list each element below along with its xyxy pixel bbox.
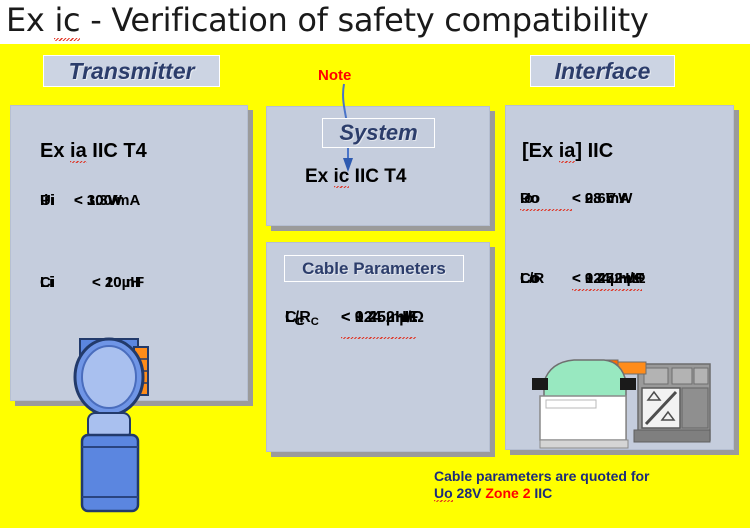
parameter-key: Po [520, 188, 572, 210]
system-classification-misspelled: ic [334, 166, 350, 187]
parameter-row: L/R< 124µH/Ω [520, 268, 646, 290]
system-classification: Ex ic IIC T4 [305, 166, 406, 188]
parameter-key: L/RC [285, 298, 341, 342]
parameter-row: L/RC< 124 µH/Ω [285, 298, 424, 338]
parameter-key: Li [40, 272, 92, 293]
footer-uo: Uo [434, 485, 453, 501]
parameter-row: Po< 0.65 W [520, 188, 632, 210]
parameter-value: < 124µH/Ω [572, 268, 646, 290]
parameter-row: Pi< 1.3W [40, 190, 122, 211]
page-title: Ex ic - Verification of safety compatibi… [6, 0, 649, 42]
transmitter-classification: Ex ia IIC T4 [40, 140, 147, 163]
cable-parameters-header-label: Cable Parameters [284, 255, 464, 282]
parameter-key: L/R [520, 268, 572, 290]
page-title-prefix: Ex [6, 1, 54, 39]
page-title-suffix: - Verification of safety compatibility [80, 1, 648, 39]
footer-zone-highlight: Zone 2 [485, 485, 530, 501]
interface-classification: [Ex ia] IIC [522, 140, 613, 163]
page-title-misspelled-word: ic [54, 1, 80, 39]
slide-root: Ex ic - Verification of safety compatibi… [0, 0, 750, 531]
interface-classification-prefix: [Ex [522, 140, 559, 162]
interface-classification-suffix: ] IIC [575, 140, 613, 162]
interface-classification-misspelled: ia [559, 140, 576, 162]
interface-header-label: Interface [530, 55, 675, 87]
parameter-key: Pi [40, 190, 74, 211]
parameter-value: < 10µH [92, 272, 141, 293]
transmitter-classification-suffix: IIC T4 [87, 140, 147, 162]
parameter-row: Li< 10µH [40, 272, 141, 293]
parameter-value: < 124 µH/Ω [341, 298, 424, 338]
transmitter-classification-prefix: Ex [40, 140, 70, 162]
footer-note: Cable parameters are quoted for Uo 28V Z… [434, 468, 650, 502]
system-classification-prefix: Ex [305, 166, 334, 187]
transmitter-header-label: Transmitter [43, 55, 220, 87]
footer-line-2: Uo 28V Zone 2 IIC [434, 485, 650, 502]
parameter-value: < 0.65 W [572, 188, 632, 210]
transmitter-classification-misspelled: ia [70, 140, 87, 162]
footer-line-1: Cable parameters are quoted for [434, 468, 650, 485]
system-classification-suffix: IIC T4 [349, 166, 406, 187]
field-transmitter-icon [66, 335, 178, 515]
parameter-value: < 1.3W [74, 190, 122, 211]
din-rail-isolator-icon [530, 352, 715, 457]
system-header-label: System [322, 118, 435, 148]
